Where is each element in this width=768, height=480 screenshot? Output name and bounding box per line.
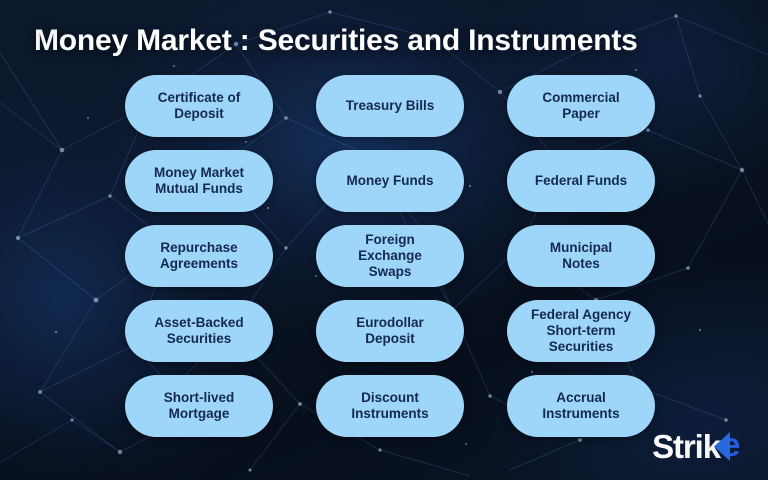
pill-foreign-exchange-swaps[interactable]: Foreign Exchange Swaps <box>316 225 464 287</box>
pill-discount-instruments[interactable]: Discount Instruments <box>316 375 464 437</box>
pill-federal-agency-short-term-securities[interactable]: Federal Agency Short-term Securities <box>507 300 655 362</box>
pill-money-market-mutual-funds[interactable]: Money Market Mutual Funds <box>125 150 273 212</box>
pill-commercial-paper[interactable]: Commercial Paper <box>507 75 655 137</box>
pill-asset-backed-securities[interactable]: Asset-Backed Securities <box>125 300 273 362</box>
pill-label: Accrual Instruments <box>542 390 619 422</box>
pill-accrual-instruments[interactable]: Accrual Instruments <box>507 375 655 437</box>
pill-eurodollar-deposit[interactable]: Eurodollar Deposit <box>316 300 464 362</box>
pill-label: Treasury Bills <box>346 98 435 114</box>
pill-money-funds[interactable]: Money Funds <box>316 150 464 212</box>
pill-label: Certificate of Deposit <box>158 90 241 122</box>
pill-label: Repurchase Agreements <box>160 240 238 272</box>
strike-logo[interactable]: Strik e <box>652 426 752 466</box>
pill-label: Commercial Paper <box>542 90 619 122</box>
pill-treasury-bills[interactable]: Treasury Bills <box>316 75 464 137</box>
page-title: Money Market : Securities and Instrument… <box>34 22 744 60</box>
pill-certificate-of-deposit[interactable]: Certificate of Deposit <box>125 75 273 137</box>
pill-municipal-notes[interactable]: Municipal Notes <box>507 225 655 287</box>
pill-label: Short-lived Mortgage <box>164 390 235 422</box>
pill-label: Eurodollar Deposit <box>356 315 424 347</box>
pill-label: Money Market Mutual Funds <box>154 165 244 197</box>
instruments-grid: Certificate of Deposit Treasury Bills Co… <box>125 75 655 437</box>
pill-short-lived-mortgage[interactable]: Short-lived Mortgage <box>125 375 273 437</box>
pill-federal-funds[interactable]: Federal Funds <box>507 150 655 212</box>
pill-label: Federal Agency Short-term Securities <box>531 307 631 355</box>
pill-label: Foreign Exchange Swaps <box>358 232 422 280</box>
pill-label: Money Funds <box>347 173 434 189</box>
strike-logo-e-arrow-icon: e <box>710 430 752 463</box>
pill-label: Municipal Notes <box>550 240 612 272</box>
pill-repurchase-agreements[interactable]: Repurchase Agreements <box>125 225 273 287</box>
infographic-canvas: Money Market : Securities and Instrument… <box>0 0 768 480</box>
pill-label: Federal Funds <box>535 173 627 189</box>
pill-label: Discount Instruments <box>351 390 428 422</box>
pill-label: Asset-Backed Securities <box>154 315 243 347</box>
